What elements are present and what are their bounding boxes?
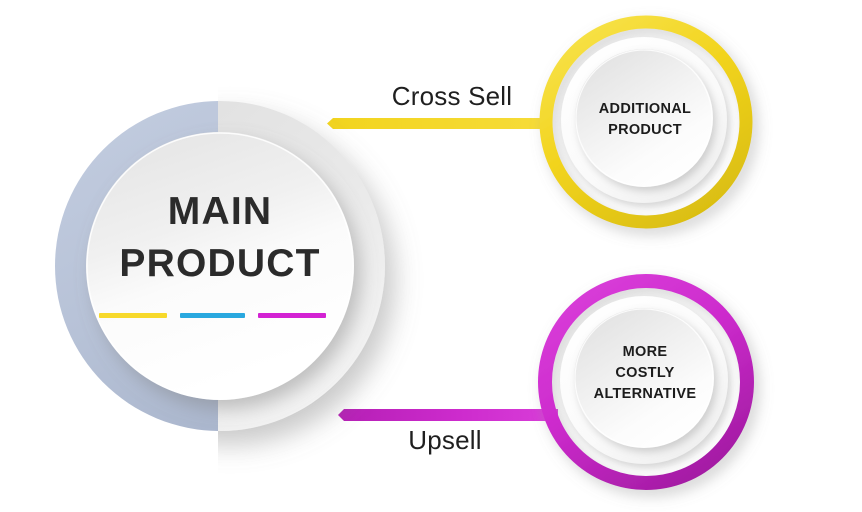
node-additional-product-graphic bbox=[546, 22, 746, 222]
connector-cross-sell-graphic bbox=[327, 118, 551, 129]
main-product-accent-dashes bbox=[99, 313, 326, 318]
diagram-graphics bbox=[0, 0, 862, 512]
node-main-product-graphic bbox=[55, 101, 385, 470]
diagram-canvas: MAIN PRODUCT ADDITIONAL PRODUCT MORE COS… bbox=[0, 0, 862, 512]
dash-blue bbox=[180, 313, 245, 318]
dash-yellow bbox=[99, 313, 167, 318]
connector-upsell-graphic bbox=[338, 409, 558, 421]
node-more-costly-alternative-graphic bbox=[545, 281, 747, 483]
dash-magenta bbox=[258, 313, 326, 318]
